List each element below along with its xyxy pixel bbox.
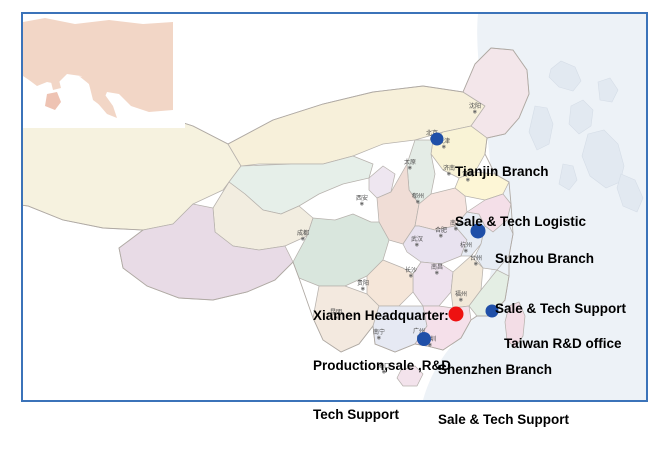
map-frame-border bbox=[21, 12, 648, 402]
annotation-shenzhen-line2: Sale & Tech Support bbox=[438, 412, 569, 429]
map-screenshot: 沈阳◉天津◉北京◉太原◉济南◉青岛◉西安◉郗州◉成都 ◉武汉◉南京◉杭州◉合肥◉… bbox=[0, 0, 670, 416]
annotation-xiamen-line3: Tech Support bbox=[313, 407, 451, 424]
